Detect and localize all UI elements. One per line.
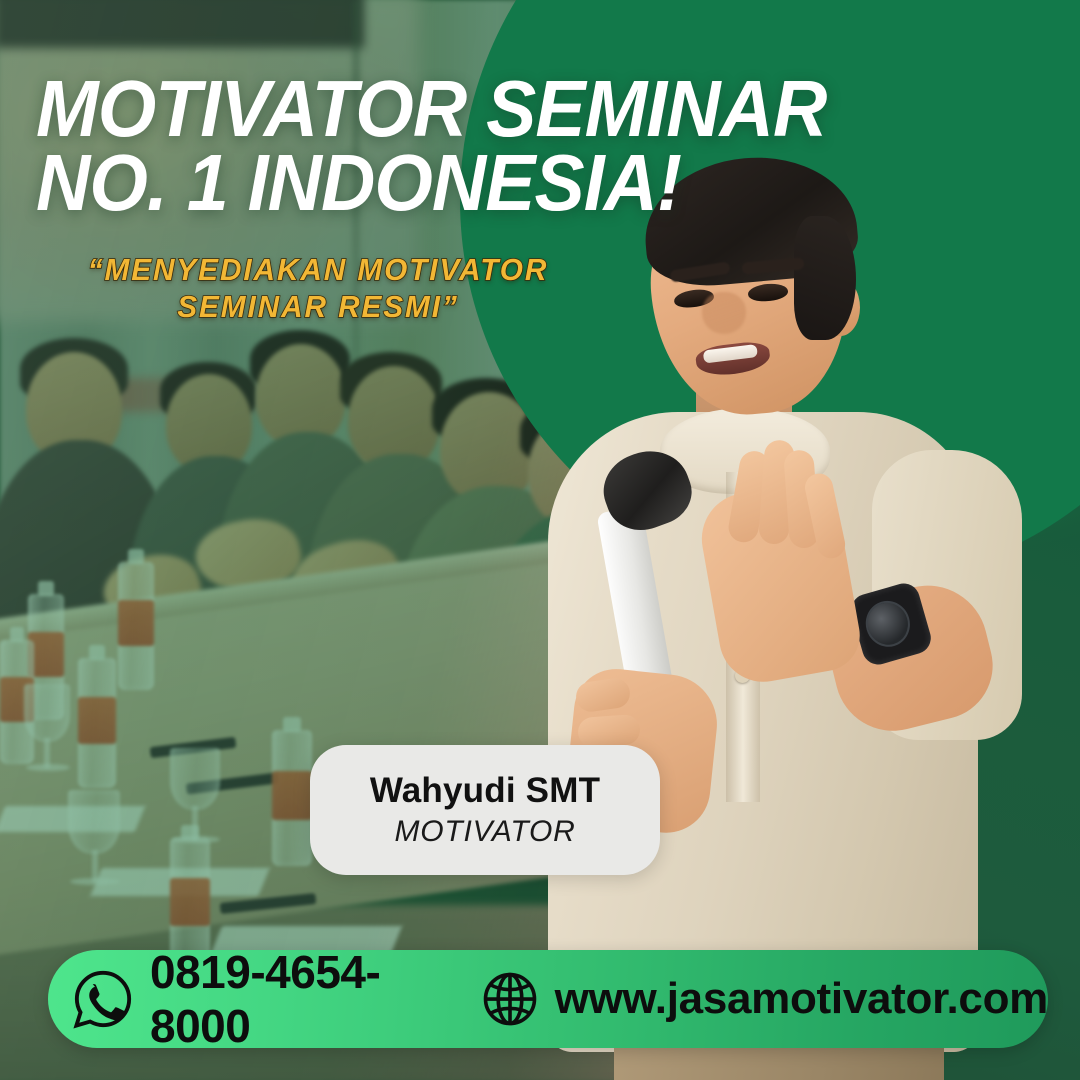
website-url[interactable]: www.jasamotivator.com [555, 974, 1048, 1024]
phone-number[interactable]: 0819-4654-8000 [150, 945, 427, 1053]
poster-canvas: MOTIVATOR SEMINAR NO. 1 INDONESIA! “MENY… [0, 0, 1080, 1080]
whatsapp-icon[interactable] [72, 968, 134, 1030]
speaker-name: Wahyudi SMT [370, 771, 600, 811]
poster-subtitle: “MENYEDIAKAN MOTIVATOR SEMINAR RESMI” [49, 252, 587, 325]
globe-icon[interactable] [481, 970, 539, 1028]
contact-bar: 0819-4654-8000 www.jasamotivator.com [48, 950, 1048, 1048]
speaker-portrait [520, 120, 1080, 1080]
speaker-role: MOTIVATOR [394, 815, 575, 849]
page-title: MOTIVATOR SEMINAR NO. 1 INDONESIA! [36, 72, 844, 221]
speaker-name-card: Wahyudi SMT MOTIVATOR [310, 745, 660, 875]
